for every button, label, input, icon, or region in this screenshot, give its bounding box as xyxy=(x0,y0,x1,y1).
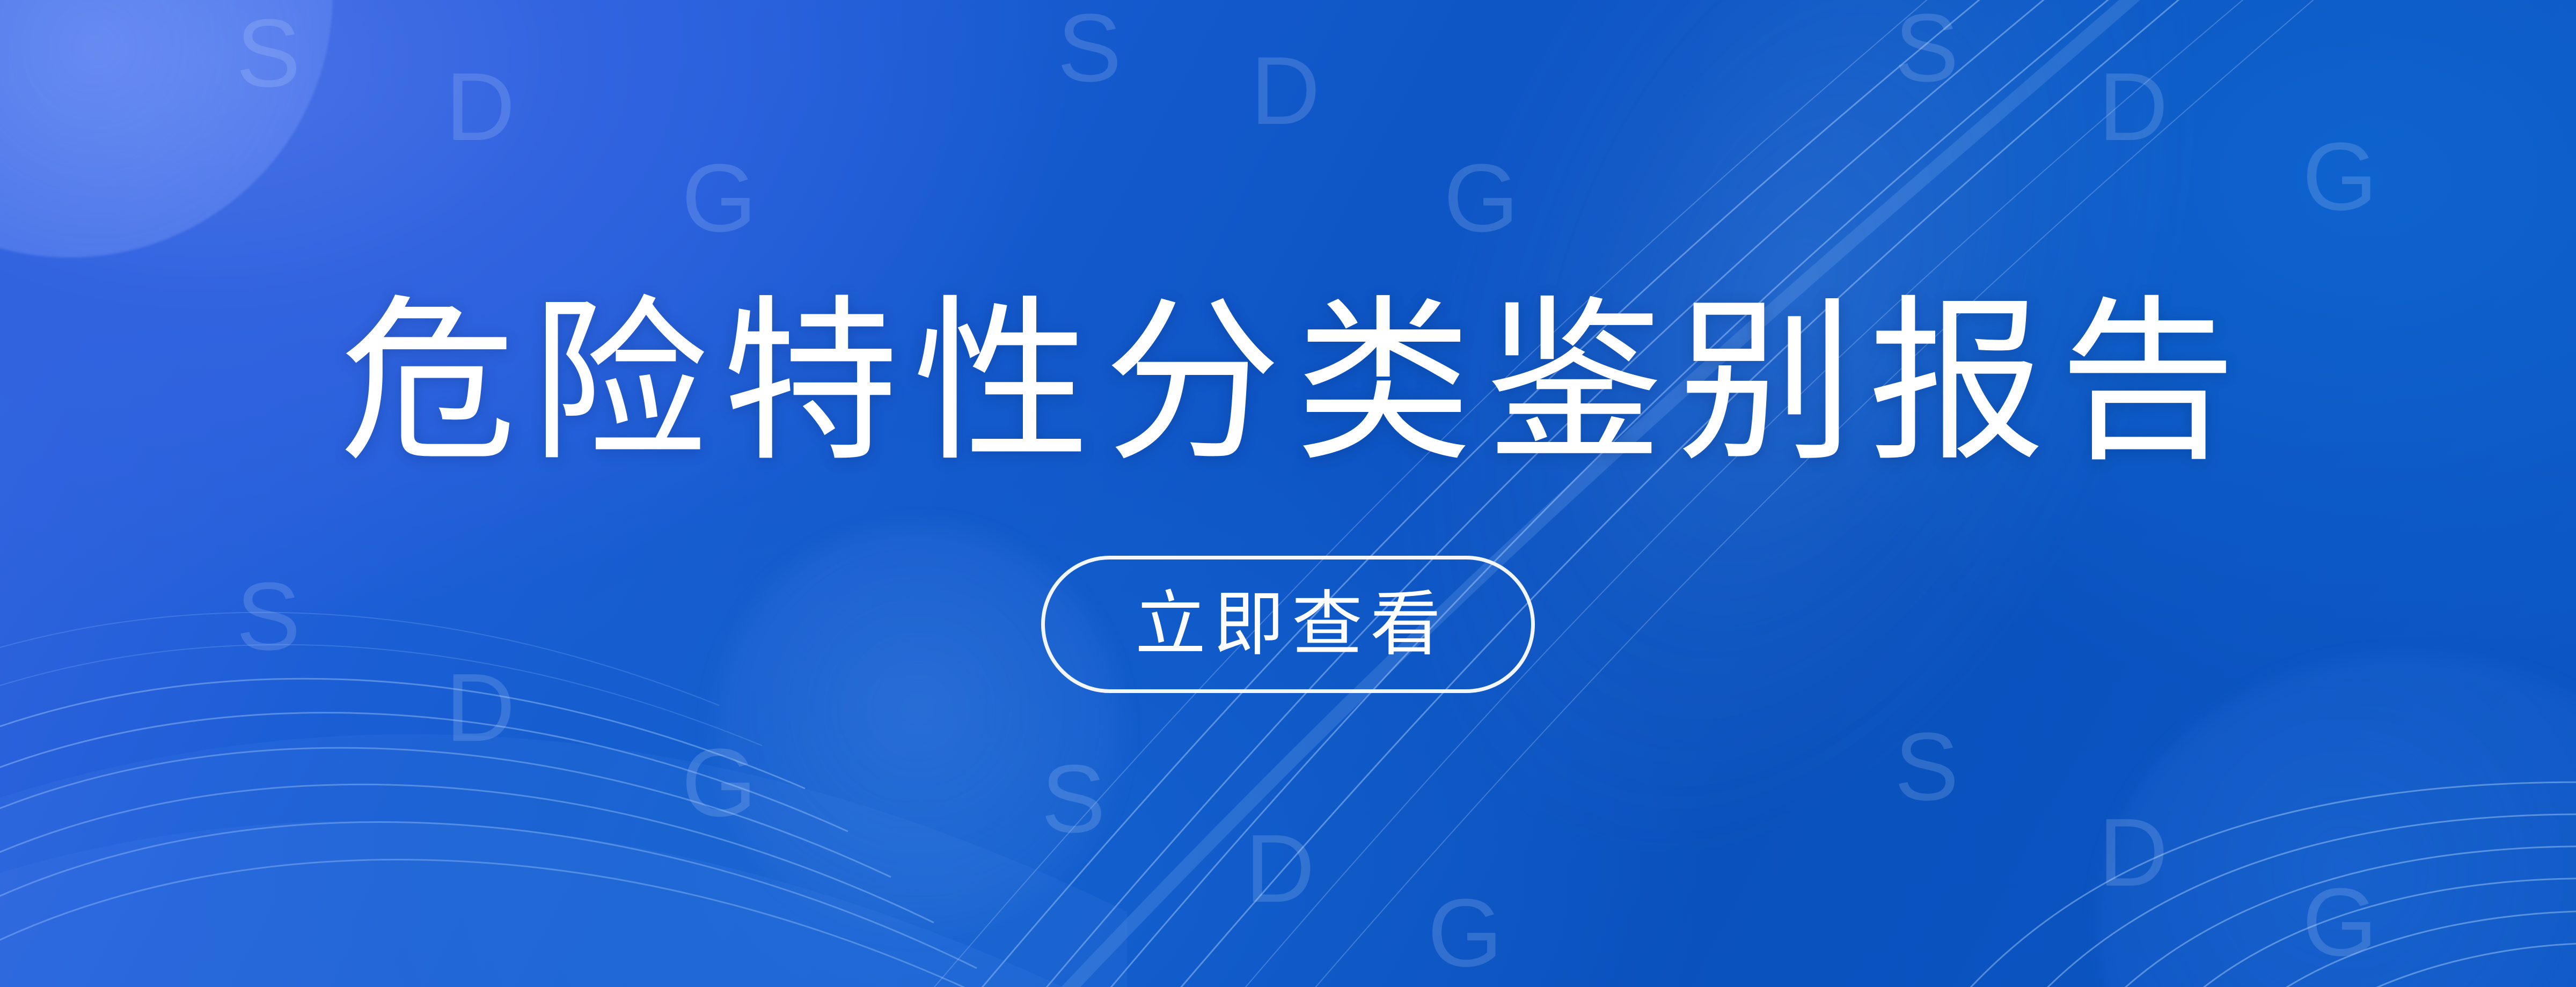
cta-container: 立即查看 xyxy=(1041,556,1535,693)
page-title: 危险特性分类鉴别报告 xyxy=(326,294,2250,471)
view-now-button-label: 立即查看 xyxy=(1128,589,1448,660)
banner-content: 危险特性分类鉴别报告 立即查看 xyxy=(0,0,2576,987)
promo-banner: SDGSDGSDGSDGSDGSDG 危险特性分类鉴别报告 立即查看 xyxy=(0,0,2576,987)
view-now-button[interactable]: 立即查看 xyxy=(1041,556,1535,693)
